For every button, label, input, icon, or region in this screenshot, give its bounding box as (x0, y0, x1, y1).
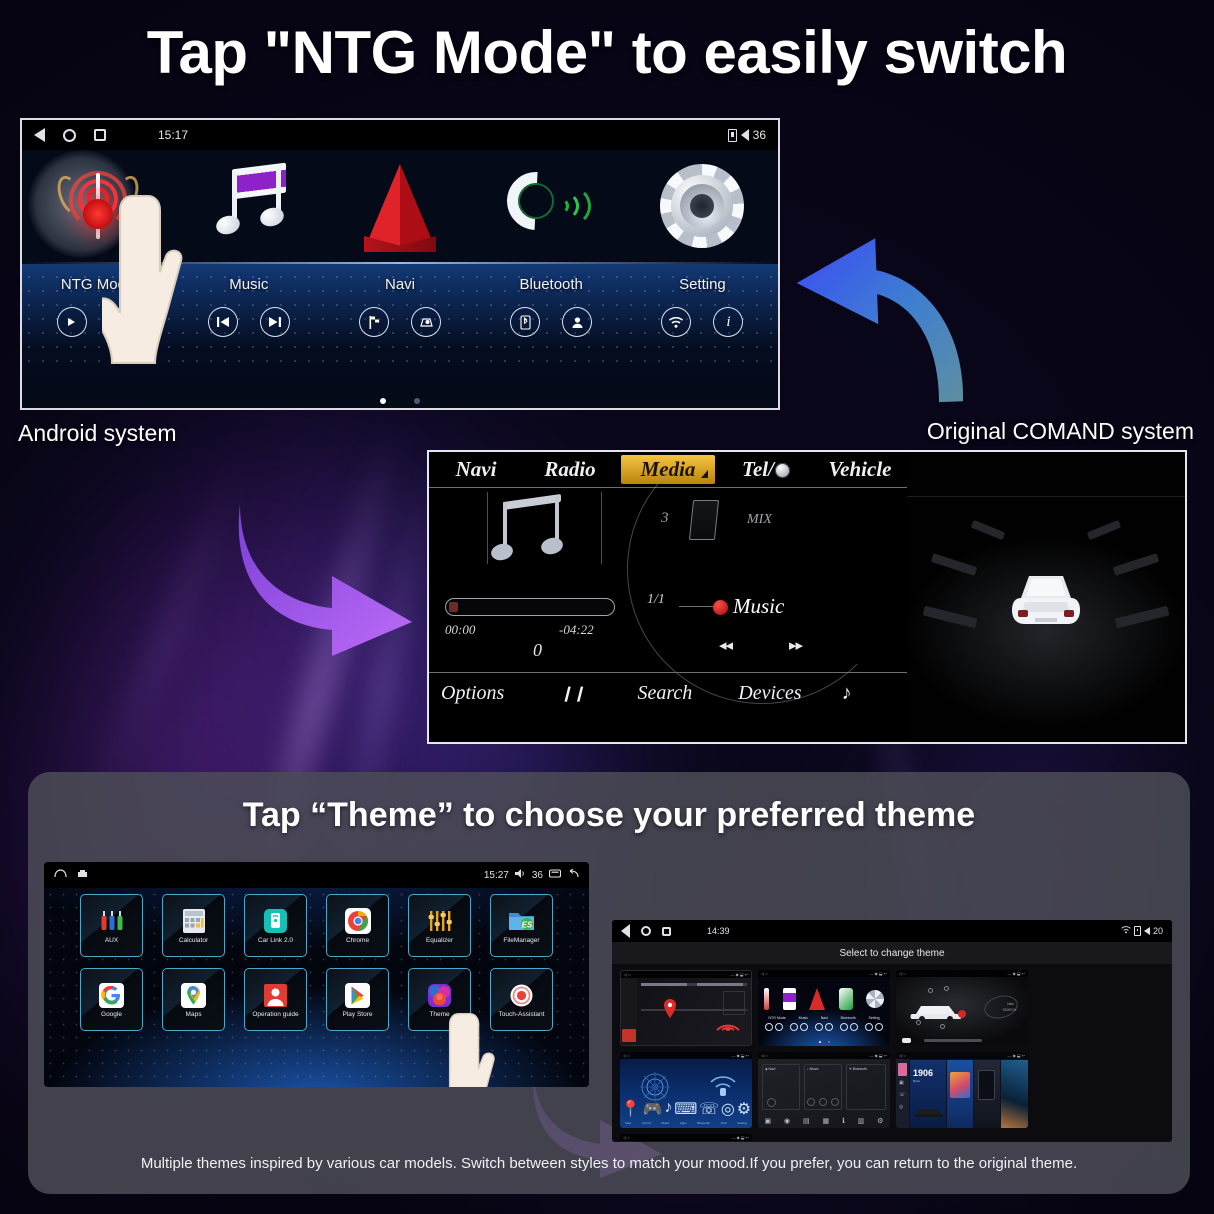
recents-icon[interactable] (662, 927, 671, 936)
recents-icon[interactable] (94, 129, 106, 141)
app-tile-touch-assistant[interactable]: Touch-Assistant (490, 968, 553, 1031)
theme-card-map-navigation[interactable]: ◁ ○— ◆ ⬓ ↩ (620, 970, 752, 1046)
app-tile-play-store[interactable]: Play Store (326, 968, 389, 1031)
app-label: Theme (429, 1012, 449, 1019)
label-android-system: Android system (18, 420, 177, 447)
device-icon (689, 500, 719, 540)
tab-navi[interactable]: Navi (429, 457, 523, 482)
home-icon[interactable] (54, 869, 67, 881)
apps-status-time: 15:27 (484, 870, 509, 881)
android-status-bar: 15:17 36 (22, 120, 778, 150)
app-label: Operation guide (252, 1012, 298, 1019)
theme-section-title: Tap “Theme” to choose your preferred the… (28, 796, 1190, 835)
aux-plugs-icon (97, 906, 127, 936)
music-note-icon (210, 164, 288, 248)
remaining-time: -04:22 (559, 622, 594, 638)
recents-icon[interactable] (549, 869, 561, 881)
page-dot[interactable] (414, 398, 420, 404)
battery-icon (728, 129, 737, 142)
purple-curved-arrow-top (236, 498, 426, 663)
app-label: Touch-Assistant (499, 1012, 545, 1019)
chooser-status-volume: 20 (1153, 926, 1163, 936)
car-link-icon (261, 906, 291, 936)
menu-item-bluetooth[interactable]: Bluetooth (476, 158, 627, 337)
bluetooth-phone-icon[interactable] (510, 307, 540, 337)
app-label: Maps (186, 1012, 202, 1019)
comand-media-body: 3 MIX 00:00 -04:22 0 1/1 Music ◂◂ ▸▸ (429, 488, 907, 668)
apps-row-1: AUX Calculator (44, 894, 589, 957)
operation-guide-icon (261, 980, 291, 1010)
theme-chooser-screen: 14:39 20 Select to change theme ◁ ○— ◆ ⬓… (612, 920, 1172, 1142)
contacts-icon[interactable] (562, 307, 592, 337)
comand-footer-bar: Options ❙❙ Search Devices ♪ (429, 672, 907, 714)
apps-status-volume: 36 (532, 870, 543, 881)
maps-pin-icon (179, 980, 209, 1010)
app-tile-theme[interactable]: Theme (408, 968, 471, 1031)
app-label: AUX (105, 938, 118, 945)
app-tile-google[interactable]: Google (80, 968, 143, 1031)
antenna-icon (63, 169, 133, 243)
menu-label-setting: Setting (627, 276, 778, 293)
map-pin-icon[interactable] (411, 307, 441, 337)
info-icon[interactable]: i (713, 307, 743, 337)
chrome-icon (343, 906, 373, 936)
status-time: 15:17 (158, 128, 188, 142)
menu-label-music: Music (173, 276, 324, 293)
app-label: Play Store (343, 1012, 373, 1019)
app-tile-calculator[interactable]: Calculator (162, 894, 225, 957)
screenshot-icon[interactable] (77, 869, 88, 881)
app-tile-aux[interactable]: AUX (80, 894, 143, 957)
blue-curved-arrow (782, 218, 982, 423)
app-tile-equalizer[interactable]: Equalizer (408, 894, 471, 957)
app-tile-maps[interactable]: Maps (162, 968, 225, 1031)
label-comand-system: Original COMAND system (927, 418, 1194, 445)
back-icon[interactable] (34, 128, 45, 142)
app-label: Chrome (346, 938, 369, 945)
android-home-body: NTG Mode ♪ Music (22, 150, 778, 410)
google-icon (97, 980, 127, 1010)
app-label: Equalizer (426, 938, 453, 945)
destination-flag-icon[interactable] (359, 307, 389, 337)
wifi-icon[interactable] (661, 307, 691, 337)
progress-bar[interactable] (445, 598, 615, 616)
app-tile-operation-guide[interactable]: Operation guide (244, 968, 307, 1031)
gear-icon (660, 164, 744, 248)
theme-icon (425, 980, 455, 1010)
previous-track-icon[interactable] (208, 307, 238, 337)
menu-label-ntg-mode: NTG Mode (22, 276, 173, 293)
volume-icon (1144, 927, 1150, 935)
app-label: FileManager (503, 938, 539, 945)
car-rear-view-icon (1005, 566, 1087, 640)
theme-card-blue-abstract[interactable]: ◁ ○— ◆ ⬓ ↩ 📍🎮♪⌨☏◎⚙ N (620, 1052, 752, 1128)
next-track-icon[interactable] (260, 307, 290, 337)
phone-handset-icon (505, 168, 597, 244)
comand-vehicle-view (907, 452, 1185, 742)
mix-label: MIX (747, 512, 772, 528)
theme-card-bmw-1906[interactable]: ◁ ○— ◆ ⬓ ↩ ▣ ☏ ◎ 1906 Drive (896, 1052, 1028, 1128)
home-icon[interactable] (63, 129, 76, 142)
app-label: Google (101, 1012, 122, 1019)
volume-icon (515, 869, 526, 881)
touch-assistant-icon (507, 980, 537, 1010)
album-music-note-icon (491, 496, 583, 570)
theme-card-audi-car[interactable]: ◁ ○— ◆ ⬓ ↩ Navi SEARCH (896, 970, 1028, 1046)
device-slot-number: 3 (661, 510, 669, 527)
theme-card-grid: ◁ ○— ◆ ⬓ ↩ ◁ ○— ◆ ⬓ ↩ (612, 964, 1172, 1142)
pause-button[interactable]: ❙❙ (560, 684, 585, 703)
menu-item-navi[interactable]: Navi (324, 158, 475, 337)
app-label: Calculator (179, 938, 208, 945)
home-menu-row: NTG Mode ♪ Music (22, 158, 778, 337)
app-tile-car-link[interactable]: Car Link 2.0 (244, 894, 307, 957)
page-indicator (22, 398, 778, 404)
comand-media-panel: Navi Radio Media Tel/ Vehicle 3 MIX 00:0… (429, 452, 907, 742)
wifi-icon (1121, 926, 1131, 936)
theme-card-dark-tile[interactable]: ◁ ○— ◆ ⬓ ↩ ♪ ▤ ☏ ◎ ⚙ Radio Navi Tel Apps… (620, 1134, 752, 1142)
sound-button[interactable]: ♪ (842, 682, 852, 705)
apps-row-2: Google Maps (44, 968, 589, 1031)
apps-grid-body: AUX Calculator (44, 888, 589, 1087)
app-label: Car Link 2.0 (258, 938, 293, 945)
back-icon[interactable] (621, 924, 630, 938)
page-title: Tap "NTG Mode" to easily switch (0, 18, 1214, 87)
volume-icon (741, 129, 749, 141)
chooser-status-bar: 14:39 20 (612, 920, 1172, 942)
theme-card-card-panel[interactable]: ◁ ○— ◆ ⬓ ↩ ◈ Navi ♪ Music ✳ Bluetooth ▣◉… (758, 1052, 890, 1128)
music-note-icon[interactable]: ♪ (109, 307, 139, 337)
play-store-icon (343, 980, 373, 1010)
menu-label-bluetooth: Bluetooth (476, 276, 627, 293)
battery-icon (1134, 926, 1141, 936)
previous-track-button[interactable]: ◂◂ (719, 636, 732, 655)
android-apps-screen: 15:27 36 (44, 862, 589, 1087)
chooser-heading: Select to change theme (612, 942, 1172, 964)
page-dot-active[interactable] (380, 398, 386, 404)
home-icon[interactable] (641, 926, 651, 936)
menu-item-music[interactable]: Music (173, 158, 324, 337)
theme-card-blue-classic[interactable]: ◁ ○— ◆ ⬓ ↩ NTG ModeMusicNaviBluetoothSet… (758, 970, 890, 1046)
back-icon[interactable] (567, 869, 579, 881)
menu-item-ntg-mode[interactable]: NTG Mode ♪ (22, 158, 173, 337)
source-label: Music (733, 594, 784, 619)
options-button[interactable]: Options (441, 682, 504, 705)
theme-section-caption: Multiple themes inspired by various car … (28, 1155, 1190, 1172)
chooser-status-time: 14:39 (707, 926, 730, 936)
android-head-unit-screen: 15:17 36 NTG Mode (20, 118, 780, 410)
search-button[interactable]: Search (637, 682, 692, 705)
equalizer-icon (425, 906, 455, 936)
track-number: 0 (533, 640, 542, 661)
app-tile-filemanager[interactable]: ES FileManager (490, 894, 553, 957)
track-index: 1/1 (647, 592, 665, 608)
apps-status-bar: 15:27 36 (44, 862, 589, 888)
menu-label-navi: Navi (324, 276, 475, 293)
source-indicator (713, 600, 728, 615)
calculator-icon (179, 906, 209, 936)
comand-head-unit-screen: Navi Radio Media Tel/ Vehicle 3 MIX 00:0… (427, 450, 1187, 744)
app-tile-chrome[interactable]: Chrome (326, 894, 389, 957)
next-track-button[interactable]: ▸▸ (789, 636, 802, 655)
status-volume-level: 36 (753, 128, 766, 142)
file-manager-icon: ES (507, 906, 537, 936)
menu-item-setting[interactable]: Setting i (627, 158, 778, 337)
tab-radio[interactable]: Radio (523, 457, 617, 482)
svg-text:ES: ES (522, 921, 533, 930)
devices-button[interactable]: Devices (738, 682, 801, 705)
elapsed-time: 00:00 (445, 622, 475, 638)
play-icon[interactable] (57, 307, 87, 337)
